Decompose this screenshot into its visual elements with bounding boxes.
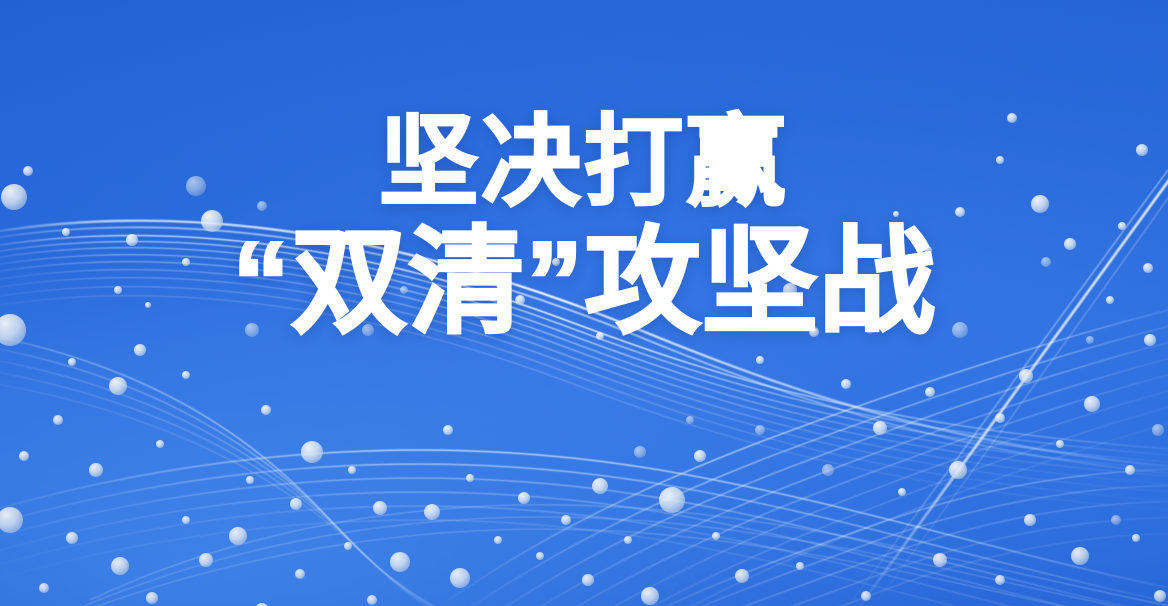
bubble-dots-decoration <box>0 0 1168 606</box>
promotional-banner: 坚决打赢 “双清”攻坚战 <box>0 0 1168 606</box>
